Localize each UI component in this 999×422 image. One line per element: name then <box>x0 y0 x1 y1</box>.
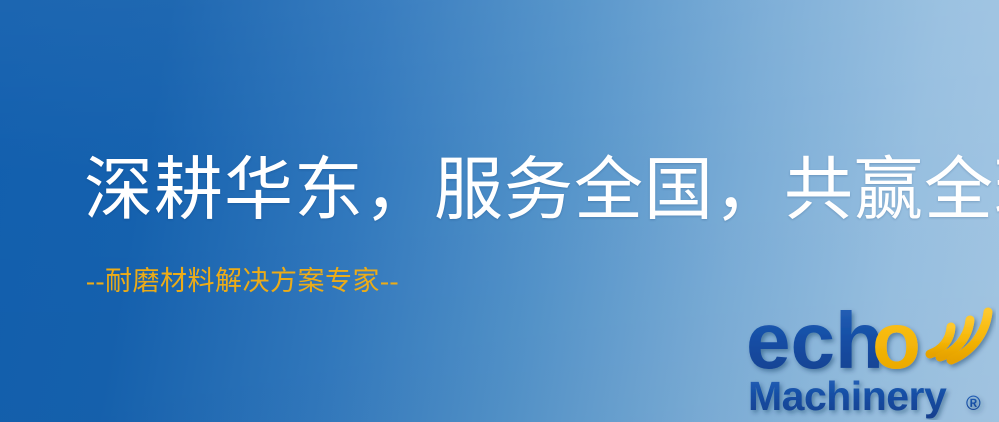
registered-trademark-icon: ® <box>966 393 981 415</box>
company-logo: echo Machinery® <box>744 296 996 420</box>
signal-waves-icon <box>930 312 988 360</box>
banner-headline: 深耕华东，服务全国，共赢全球 <box>84 148 999 232</box>
logo-o-letter: o <box>872 296 921 385</box>
echo-machinery-logomark: ech o Machinery ® <box>744 296 996 420</box>
banner-subtitle: --耐磨材料解决方案专家-- <box>86 264 399 298</box>
logo-ech-letters: ech <box>746 296 884 385</box>
logo-machinery-word: Machinery <box>748 373 947 419</box>
hero-banner: 深耕华东，服务全国，共赢全球 --耐磨材料解决方案专家-- echo Machi… <box>0 0 999 422</box>
